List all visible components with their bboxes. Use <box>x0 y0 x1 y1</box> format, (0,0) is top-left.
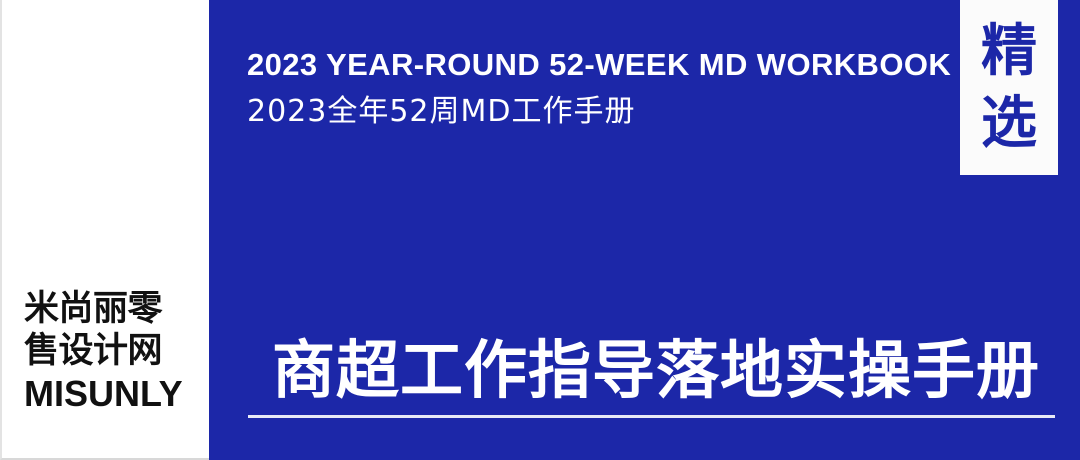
brand-logo-line1: 米尚丽零 <box>24 288 196 330</box>
main-title: 商超工作指导落地实操手册 <box>248 335 1058 407</box>
featured-badge-char-1: 精 <box>981 16 1037 88</box>
main-title-block: 商超工作指导落地实操手册 <box>248 335 1058 418</box>
heading-chinese: 2023全年52周MD工作手册 <box>247 93 951 131</box>
title-underline-rule <box>248 415 1055 418</box>
promo-banner: 米尚丽零 售设计网 MISUNLY 2023 YEAR-ROUND 52-WEE… <box>0 0 1080 460</box>
brand-logo-line3: MISUNLY <box>24 372 196 416</box>
heading-english: 2023 YEAR-ROUND 52-WEEK MD WORKBOOK <box>247 45 951 85</box>
brand-logo-line2: 售设计网 <box>24 330 196 372</box>
brand-logo: 米尚丽零 售设计网 MISUNLY <box>24 288 196 416</box>
featured-badge-char-2: 选 <box>981 88 1037 160</box>
logo-panel: 米尚丽零 售设计网 MISUNLY <box>0 0 209 460</box>
featured-badge: 精 选 <box>960 0 1058 175</box>
heading-group: 2023 YEAR-ROUND 52-WEEK MD WORKBOOK 2023… <box>247 45 951 131</box>
